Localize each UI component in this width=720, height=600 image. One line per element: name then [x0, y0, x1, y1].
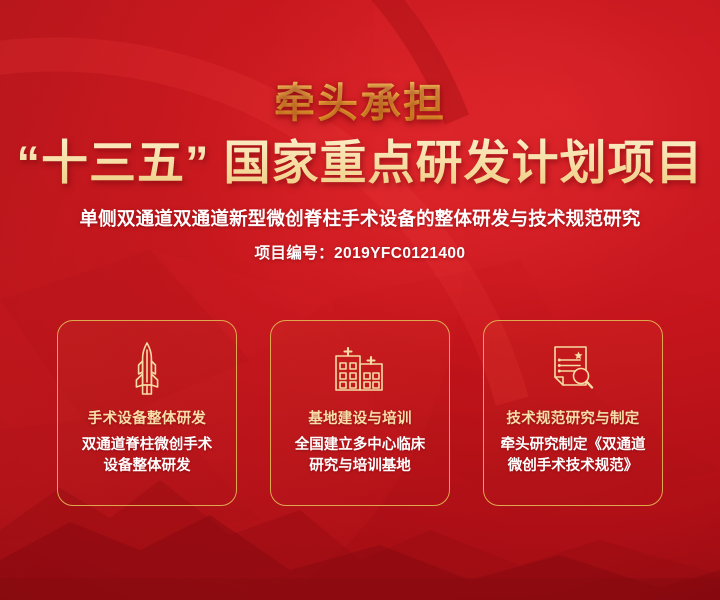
feature-card-3-title: 技术规范研究与制定 [506, 407, 639, 428]
feature-card-3[interactable]: 技术规范研究与制定 牵头研究制定《双通道 微创手术技术规范》 [483, 320, 663, 506]
poster-headline: 牵头承担 “十三五” 国家重点研发计划项目 [0, 78, 720, 192]
headline-line-2: “十三五” 国家重点研发计划项目 [0, 134, 720, 192]
feature-card-2-title: 基地建设与培训 [308, 407, 412, 428]
document-magnifier-icon [550, 340, 596, 398]
feature-card-1[interactable]: 手术设备整体研发 双通道脊柱微创手术 设备整体研发 [57, 320, 237, 506]
project-number: 项目编号：2019YFC0121400 [0, 243, 720, 265]
feature-card-2[interactable]: 基地建设与培训 全国建立多中心临床 研究与培训基地 [270, 320, 450, 506]
feature-card-1-title: 手术设备整体研发 [88, 407, 206, 428]
rocket-icon [130, 340, 164, 398]
hospital-building-icon [334, 340, 386, 398]
feature-card-1-body: 双通道脊柱微创手术 设备整体研发 [72, 435, 223, 477]
feature-card-2-body-line-1: 全国建立多中心临床 [295, 437, 426, 453]
feature-card-1-body-line-1: 双通道脊柱微创手术 [82, 437, 213, 453]
feature-card-3-body: 牵头研究制定《双通道 微创手术技术规范》 [491, 435, 656, 477]
feature-card-3-body-line-2: 微创手术技术规范》 [508, 458, 639, 474]
headline-line-1: 牵头承担 [0, 78, 720, 128]
feature-card-3-body-line-1: 牵头研究制定《双通道 [501, 437, 646, 453]
feature-card-2-body-line-2: 研究与培训基地 [309, 458, 411, 474]
poster-subtitle: 单侧双通道双通道新型微创脊柱手术设备的整体研发与技术规范研究 [0, 206, 720, 232]
feature-card-1-body-line-2: 设备整体研发 [104, 458, 191, 474]
feature-card-2-body: 全国建立多中心临床 研究与培训基地 [285, 435, 436, 477]
poster-root: 牵头承担 “十三五” 国家重点研发计划项目 单侧双通道双通道新型微创脊柱手术设备… [0, 0, 720, 600]
feature-card-list: 手术设备整体研发 双通道脊柱微创手术 设备整体研发 [57, 320, 663, 506]
